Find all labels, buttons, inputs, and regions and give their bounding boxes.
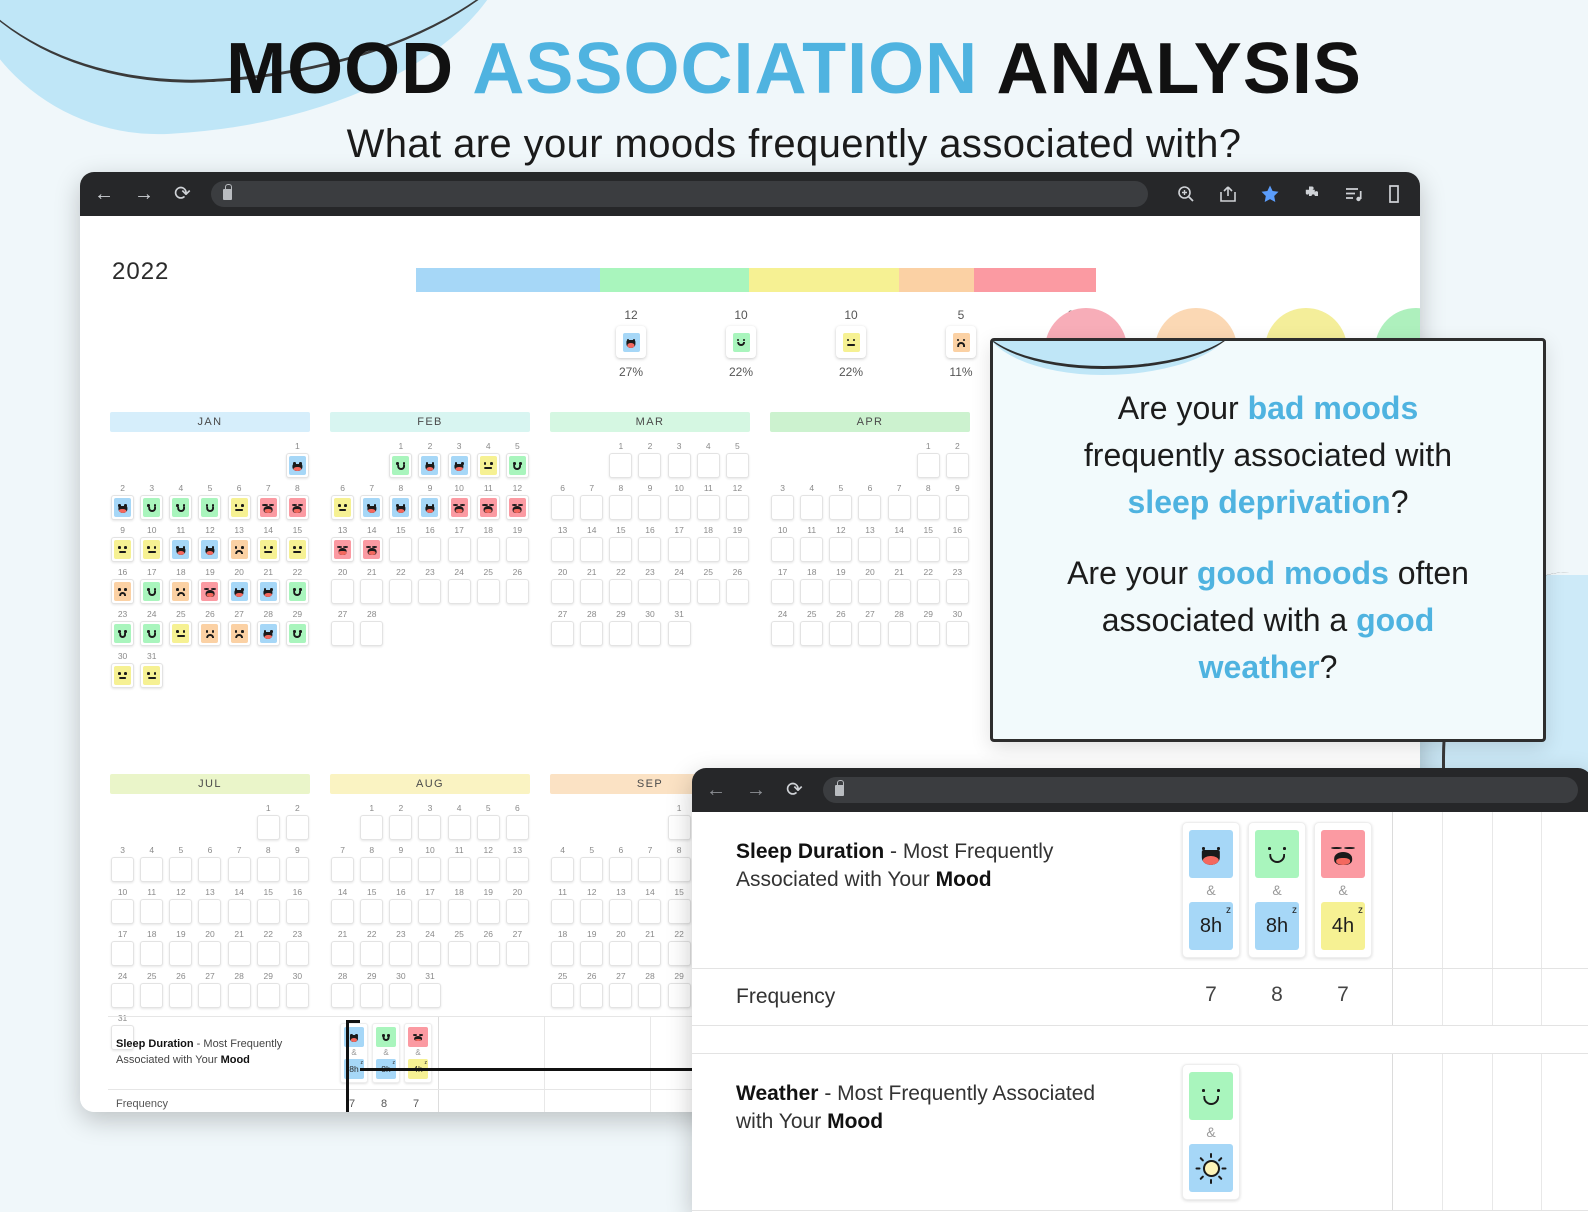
- day-cell[interactable]: 7: [579, 483, 604, 521]
- day-box[interactable]: [418, 453, 441, 478]
- association-pair[interactable]: &4hz: [404, 1023, 432, 1083]
- day-box[interactable]: [331, 621, 354, 646]
- day-box[interactable]: [286, 537, 309, 562]
- day-box[interactable]: [169, 579, 192, 604]
- day-cell[interactable]: 19: [579, 929, 604, 967]
- day-cell[interactable]: 15: [608, 525, 633, 563]
- stat-chip[interactable]: [726, 326, 756, 358]
- day-cell[interactable]: 11: [139, 887, 164, 925]
- day-cell[interactable]: 14: [579, 525, 604, 563]
- day-box[interactable]: [506, 495, 529, 520]
- day-cell[interactable]: 17: [447, 525, 472, 563]
- day-box[interactable]: [286, 453, 309, 478]
- day-cell[interactable]: 8: [608, 483, 633, 521]
- day-box[interactable]: [697, 537, 720, 562]
- day-cell[interactable]: 12: [579, 887, 604, 925]
- day-cell[interactable]: 22: [388, 567, 413, 605]
- day-cell[interactable]: 10: [667, 483, 692, 521]
- day-cell[interactable]: 29: [256, 971, 281, 1009]
- day-cell[interactable]: 18: [168, 567, 193, 605]
- day-cell[interactable]: 10: [770, 525, 795, 563]
- day-cell[interactable]: 19: [828, 567, 853, 605]
- day-cell[interactable]: 12: [828, 525, 853, 563]
- day-box[interactable]: [609, 983, 632, 1008]
- association-pair[interactable]: &8hz: [372, 1023, 400, 1083]
- day-box[interactable]: [257, 815, 280, 840]
- day-box[interactable]: [448, 453, 471, 478]
- day-cell[interactable]: 6: [197, 845, 222, 883]
- day-box[interactable]: [360, 621, 383, 646]
- day-cell[interactable]: 8: [285, 483, 310, 521]
- day-cell[interactable]: 1: [916, 441, 941, 479]
- day-box[interactable]: [448, 857, 471, 882]
- day-box[interactable]: [726, 579, 749, 604]
- day-cell[interactable]: 5: [505, 441, 530, 479]
- day-cell[interactable]: 3: [110, 845, 135, 883]
- day-box[interactable]: [418, 537, 441, 562]
- day-cell[interactable]: 30: [637, 609, 662, 647]
- day-box[interactable]: [389, 899, 412, 924]
- day-box[interactable]: [360, 579, 383, 604]
- day-box[interactable]: [389, 579, 412, 604]
- day-cell[interactable]: 23: [417, 567, 442, 605]
- day-cell[interactable]: 10: [110, 887, 135, 925]
- back-arrow-icon[interactable]: ←: [706, 780, 726, 800]
- day-cell[interactable]: 14: [359, 525, 384, 563]
- day-cell[interactable]: 26: [168, 971, 193, 1009]
- day-cell[interactable]: 21: [359, 567, 384, 605]
- day-cell[interactable]: 31: [139, 651, 164, 689]
- day-box[interactable]: [331, 495, 354, 520]
- day-box[interactable]: [946, 453, 969, 478]
- day-box[interactable]: [448, 579, 471, 604]
- day-box[interactable]: [668, 857, 691, 882]
- day-box[interactable]: [198, 899, 221, 924]
- day-cell[interactable]: 9: [945, 483, 970, 521]
- day-box[interactable]: [506, 857, 529, 882]
- day-box[interactable]: [638, 983, 661, 1008]
- day-box[interactable]: [111, 663, 134, 688]
- day-cell[interactable]: 23: [945, 567, 970, 605]
- day-cell[interactable]: 2: [285, 803, 310, 841]
- day-box[interactable]: [198, 983, 221, 1008]
- day-cell[interactable]: 1: [285, 441, 310, 479]
- day-cell[interactable]: 7: [330, 845, 355, 883]
- day-box[interactable]: [198, 579, 221, 604]
- day-cell[interactable]: 3: [667, 441, 692, 479]
- reload-icon[interactable]: ⟳: [786, 780, 803, 800]
- day-cell[interactable]: 20: [550, 567, 575, 605]
- day-box[interactable]: [551, 621, 574, 646]
- day-box[interactable]: [140, 663, 163, 688]
- day-box[interactable]: [286, 941, 309, 966]
- day-cell[interactable]: 1: [608, 441, 633, 479]
- day-cell[interactable]: 3: [447, 441, 472, 479]
- day-cell[interactable]: 7: [256, 483, 281, 521]
- day-cell[interactable]: 28: [579, 609, 604, 647]
- day-box[interactable]: [389, 537, 412, 562]
- day-box[interactable]: [609, 495, 632, 520]
- day-cell[interactable]: 28: [637, 971, 662, 1009]
- day-box[interactable]: [331, 941, 354, 966]
- day-cell[interactable]: 16: [637, 525, 662, 563]
- day-box[interactable]: [140, 941, 163, 966]
- day-cell[interactable]: 29: [667, 971, 692, 1009]
- day-box[interactable]: [800, 621, 823, 646]
- day-cell[interactable]: 1: [359, 803, 384, 841]
- stat-chip[interactable]: [616, 326, 646, 358]
- day-box[interactable]: [389, 983, 412, 1008]
- day-cell[interactable]: 30: [110, 651, 135, 689]
- day-box[interactable]: [331, 579, 354, 604]
- day-box[interactable]: [140, 899, 163, 924]
- day-cell[interactable]: 13: [197, 887, 222, 925]
- day-cell[interactable]: 19: [476, 887, 501, 925]
- day-box[interactable]: [360, 899, 383, 924]
- day-box[interactable]: [257, 899, 280, 924]
- day-box[interactable]: [257, 857, 280, 882]
- day-box[interactable]: [286, 815, 309, 840]
- day-box[interactable]: [609, 537, 632, 562]
- day-box[interactable]: [331, 899, 354, 924]
- day-cell[interactable]: 31: [417, 971, 442, 1009]
- day-box[interactable]: [609, 941, 632, 966]
- zoom-icon[interactable]: [1176, 184, 1196, 204]
- day-cell[interactable]: 17: [139, 567, 164, 605]
- day-box[interactable]: [228, 857, 251, 882]
- day-box[interactable]: [580, 579, 603, 604]
- day-cell[interactable]: 11: [447, 845, 472, 883]
- day-box[interactable]: [829, 537, 852, 562]
- day-box[interactable]: [609, 453, 632, 478]
- day-cell[interactable]: 13: [227, 525, 252, 563]
- day-box[interactable]: [697, 453, 720, 478]
- day-cell[interactable]: 18: [550, 929, 575, 967]
- share-icon[interactable]: [1218, 184, 1238, 204]
- day-box[interactable]: [198, 621, 221, 646]
- day-box[interactable]: [228, 495, 251, 520]
- day-cell[interactable]: 5: [725, 441, 750, 479]
- day-box[interactable]: [551, 857, 574, 882]
- association-pair[interactable]: &: [1182, 1064, 1240, 1200]
- day-cell[interactable]: 15: [916, 525, 941, 563]
- day-box[interactable]: [551, 495, 574, 520]
- day-cell[interactable]: 28: [227, 971, 252, 1009]
- day-cell[interactable]: 10: [417, 845, 442, 883]
- day-box[interactable]: [888, 537, 911, 562]
- day-box[interactable]: [257, 621, 280, 646]
- day-box[interactable]: [551, 899, 574, 924]
- day-box[interactable]: [668, 621, 691, 646]
- day-cell[interactable]: 28: [887, 609, 912, 647]
- day-cell[interactable]: 5: [828, 483, 853, 521]
- stat-chip[interactable]: [946, 326, 976, 358]
- day-box[interactable]: [726, 495, 749, 520]
- day-cell[interactable]: 29: [608, 609, 633, 647]
- day-cell[interactable]: 5: [476, 803, 501, 841]
- day-box[interactable]: [580, 899, 603, 924]
- day-box[interactable]: [418, 899, 441, 924]
- day-box[interactable]: [169, 621, 192, 646]
- day-cell[interactable]: 18: [476, 525, 501, 563]
- day-box[interactable]: [800, 537, 823, 562]
- day-box[interactable]: [477, 495, 500, 520]
- day-cell[interactable]: 18: [139, 929, 164, 967]
- day-box[interactable]: [111, 899, 134, 924]
- day-cell[interactable]: 22: [256, 929, 281, 967]
- day-cell[interactable]: 6: [550, 483, 575, 521]
- day-box[interactable]: [169, 983, 192, 1008]
- day-box[interactable]: [506, 941, 529, 966]
- day-box[interactable]: [360, 815, 383, 840]
- day-box[interactable]: [418, 579, 441, 604]
- day-cell[interactable]: 16: [945, 525, 970, 563]
- day-cell[interactable]: 25: [550, 971, 575, 1009]
- day-cell[interactable]: 22: [285, 567, 310, 605]
- day-cell[interactable]: 25: [447, 929, 472, 967]
- day-box[interactable]: [257, 579, 280, 604]
- day-box[interactable]: [888, 621, 911, 646]
- day-cell[interactable]: 28: [330, 971, 355, 1009]
- day-cell[interactable]: 31: [667, 609, 692, 647]
- day-box[interactable]: [551, 537, 574, 562]
- day-box[interactable]: [609, 579, 632, 604]
- day-cell[interactable]: 27: [227, 609, 252, 647]
- day-box[interactable]: [506, 579, 529, 604]
- day-cell[interactable]: 27: [608, 971, 633, 1009]
- day-box[interactable]: [140, 579, 163, 604]
- day-box[interactable]: [609, 899, 632, 924]
- day-cell[interactable]: 9: [637, 483, 662, 521]
- day-cell[interactable]: 17: [667, 525, 692, 563]
- day-cell[interactable]: 27: [505, 929, 530, 967]
- day-box[interactable]: [726, 537, 749, 562]
- day-cell[interactable]: 1: [667, 803, 692, 841]
- day-cell[interactable]: 21: [637, 929, 662, 967]
- day-box[interactable]: [257, 537, 280, 562]
- day-cell[interactable]: 26: [476, 929, 501, 967]
- day-cell[interactable]: 20: [608, 929, 633, 967]
- day-box[interactable]: [638, 857, 661, 882]
- reload-icon[interactable]: ⟳: [174, 184, 191, 204]
- day-cell[interactable]: 25: [168, 609, 193, 647]
- day-box[interactable]: [858, 621, 881, 646]
- day-cell[interactable]: 21: [256, 567, 281, 605]
- day-box[interactable]: [551, 941, 574, 966]
- day-box[interactable]: [580, 537, 603, 562]
- day-cell[interactable]: 12: [725, 483, 750, 521]
- day-cell[interactable]: 24: [417, 929, 442, 967]
- day-cell[interactable]: 6: [505, 803, 530, 841]
- day-cell[interactable]: 27: [197, 971, 222, 1009]
- day-cell[interactable]: 19: [168, 929, 193, 967]
- day-box[interactable]: [917, 621, 940, 646]
- day-cell[interactable]: 6: [857, 483, 882, 521]
- day-cell[interactable]: 29: [916, 609, 941, 647]
- day-box[interactable]: [111, 495, 134, 520]
- day-box[interactable]: [506, 537, 529, 562]
- day-cell[interactable]: 20: [505, 887, 530, 925]
- day-cell[interactable]: 3: [770, 483, 795, 521]
- day-box[interactable]: [111, 579, 134, 604]
- day-cell[interactable]: 11: [696, 483, 721, 521]
- day-cell[interactable]: 29: [359, 971, 384, 1009]
- day-box[interactable]: [448, 899, 471, 924]
- day-box[interactable]: [668, 495, 691, 520]
- day-cell[interactable]: 12: [168, 887, 193, 925]
- day-box[interactable]: [257, 941, 280, 966]
- day-cell[interactable]: 5: [197, 483, 222, 521]
- day-cell[interactable]: 6: [330, 483, 355, 521]
- day-box[interactable]: [638, 899, 661, 924]
- day-box[interactable]: [331, 537, 354, 562]
- day-cell[interactable]: 13: [550, 525, 575, 563]
- day-box[interactable]: [418, 857, 441, 882]
- day-cell[interactable]: 26: [579, 971, 604, 1009]
- day-box[interactable]: [228, 983, 251, 1008]
- day-cell[interactable]: 2: [110, 483, 135, 521]
- association-pair[interactable]: &4hz: [1314, 822, 1372, 958]
- day-cell[interactable]: 22: [667, 929, 692, 967]
- day-cell[interactable]: 16: [285, 887, 310, 925]
- day-box[interactable]: [771, 621, 794, 646]
- day-cell[interactable]: 2: [417, 441, 442, 479]
- day-cell[interactable]: 9: [285, 845, 310, 883]
- day-cell[interactable]: 24: [770, 609, 795, 647]
- day-cell[interactable]: 18: [799, 567, 824, 605]
- day-cell[interactable]: 24: [447, 567, 472, 605]
- association-pair[interactable]: &8hz: [1248, 822, 1306, 958]
- day-box[interactable]: [917, 453, 940, 478]
- day-cell[interactable]: 23: [110, 609, 135, 647]
- day-cell[interactable]: 25: [139, 971, 164, 1009]
- day-box[interactable]: [389, 453, 412, 478]
- day-box[interactable]: [360, 941, 383, 966]
- day-cell[interactable]: 24: [667, 567, 692, 605]
- day-cell[interactable]: 8: [667, 845, 692, 883]
- day-box[interactable]: [140, 857, 163, 882]
- address-bar[interactable]: [823, 777, 1578, 803]
- address-bar[interactable]: [211, 181, 1148, 207]
- day-cell[interactable]: 4: [476, 441, 501, 479]
- day-box[interactable]: [726, 453, 749, 478]
- day-cell[interactable]: 27: [550, 609, 575, 647]
- day-box[interactable]: [389, 815, 412, 840]
- day-box[interactable]: [638, 495, 661, 520]
- day-cell[interactable]: 20: [857, 567, 882, 605]
- day-cell[interactable]: 2: [388, 803, 413, 841]
- day-cell[interactable]: 29: [285, 609, 310, 647]
- day-cell[interactable]: 22: [608, 567, 633, 605]
- day-box[interactable]: [140, 495, 163, 520]
- day-box[interactable]: [638, 621, 661, 646]
- day-box[interactable]: [917, 579, 940, 604]
- day-cell[interactable]: 5: [579, 845, 604, 883]
- day-box[interactable]: [418, 495, 441, 520]
- day-box[interactable]: [917, 537, 940, 562]
- day-box[interactable]: [169, 495, 192, 520]
- day-cell[interactable]: 11: [550, 887, 575, 925]
- day-box[interactable]: [580, 495, 603, 520]
- day-box[interactable]: [169, 899, 192, 924]
- day-cell[interactable]: 20: [330, 567, 355, 605]
- day-cell[interactable]: 26: [828, 609, 853, 647]
- day-cell[interactable]: 11: [168, 525, 193, 563]
- day-box[interactable]: [418, 941, 441, 966]
- day-box[interactable]: [946, 495, 969, 520]
- day-cell[interactable]: 16: [110, 567, 135, 605]
- day-cell[interactable]: 3: [139, 483, 164, 521]
- day-cell[interactable]: 10: [447, 483, 472, 521]
- day-box[interactable]: [829, 621, 852, 646]
- day-box[interactable]: [946, 537, 969, 562]
- day-cell[interactable]: 5: [168, 845, 193, 883]
- day-box[interactable]: [169, 537, 192, 562]
- media-list-icon[interactable]: [1344, 184, 1364, 204]
- day-box[interactable]: [198, 941, 221, 966]
- day-box[interactable]: [477, 857, 500, 882]
- day-cell[interactable]: 7: [887, 483, 912, 521]
- day-cell[interactable]: 6: [227, 483, 252, 521]
- day-cell[interactable]: 15: [285, 525, 310, 563]
- day-box[interactable]: [697, 579, 720, 604]
- day-cell[interactable]: 12: [197, 525, 222, 563]
- day-box[interactable]: [580, 857, 603, 882]
- day-cell[interactable]: 14: [330, 887, 355, 925]
- day-cell[interactable]: 1: [388, 441, 413, 479]
- day-box[interactable]: [228, 899, 251, 924]
- day-cell[interactable]: 17: [770, 567, 795, 605]
- extensions-puzzle-icon[interactable]: [1302, 184, 1322, 204]
- day-cell[interactable]: 24: [110, 971, 135, 1009]
- day-cell[interactable]: 27: [330, 609, 355, 647]
- day-cell[interactable]: 30: [285, 971, 310, 1009]
- day-cell[interactable]: 30: [945, 609, 970, 647]
- day-box[interactable]: [638, 537, 661, 562]
- day-cell[interactable]: 8: [256, 845, 281, 883]
- day-box[interactable]: [771, 495, 794, 520]
- day-box[interactable]: [668, 579, 691, 604]
- day-box[interactable]: [697, 495, 720, 520]
- day-cell[interactable]: 26: [197, 609, 222, 647]
- day-cell[interactable]: 21: [227, 929, 252, 967]
- day-box[interactable]: [228, 941, 251, 966]
- day-box[interactable]: [580, 941, 603, 966]
- day-cell[interactable]: 14: [887, 525, 912, 563]
- day-cell[interactable]: 17: [417, 887, 442, 925]
- day-cell[interactable]: 4: [447, 803, 472, 841]
- day-cell[interactable]: 15: [667, 887, 692, 925]
- day-box[interactable]: [506, 815, 529, 840]
- day-cell[interactable]: 22: [916, 567, 941, 605]
- day-cell[interactable]: 17: [110, 929, 135, 967]
- day-box[interactable]: [638, 941, 661, 966]
- day-cell[interactable]: 19: [505, 525, 530, 563]
- day-box[interactable]: [140, 983, 163, 1008]
- day-box[interactable]: [609, 857, 632, 882]
- day-box[interactable]: [286, 579, 309, 604]
- day-cell[interactable]: 18: [696, 525, 721, 563]
- day-cell[interactable]: 27: [857, 609, 882, 647]
- day-cell[interactable]: 8: [359, 845, 384, 883]
- day-box[interactable]: [668, 537, 691, 562]
- day-cell[interactable]: 21: [887, 567, 912, 605]
- day-box[interactable]: [580, 621, 603, 646]
- day-box[interactable]: [917, 495, 940, 520]
- bookmark-star-icon[interactable]: [1260, 184, 1280, 204]
- association-pair[interactable]: &8hz: [1182, 822, 1240, 958]
- day-box[interactable]: [946, 621, 969, 646]
